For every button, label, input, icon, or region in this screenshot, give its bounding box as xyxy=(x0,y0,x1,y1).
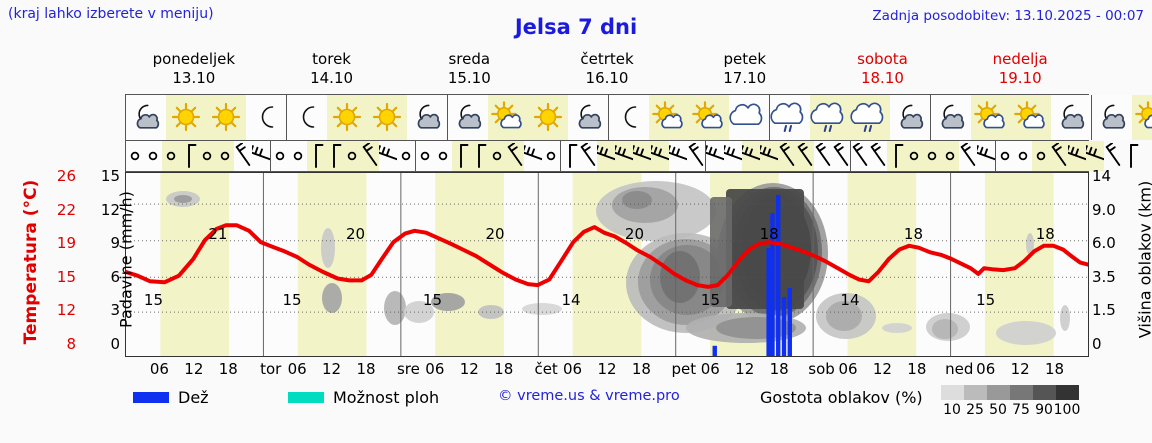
day-header-6: nedelja 19.10 xyxy=(951,50,1089,92)
sun-cloud-icon xyxy=(649,95,689,140)
moon-cloud-icon xyxy=(890,95,930,140)
cloud-height-tick: 1.5 xyxy=(1092,301,1132,319)
wind-barb-icon xyxy=(832,141,850,171)
temperature-label: 20 xyxy=(485,225,504,243)
wind-barb-icon xyxy=(162,141,180,171)
wind-barb-icon xyxy=(887,141,905,171)
temperature-tick: 12 xyxy=(36,301,76,319)
wind-barb-icon xyxy=(361,141,379,171)
cloud-density-swatch-75 xyxy=(1010,385,1033,400)
cloud-density-swatch-90 xyxy=(1033,385,1056,400)
x-axis-label: 18 xyxy=(219,360,238,378)
x-axis-label: čet xyxy=(534,360,557,378)
showers-color-swatch xyxy=(288,392,324,403)
wind-barb-icon xyxy=(724,141,742,171)
cloud-density-tick: 100 xyxy=(1054,402,1081,418)
wind-barb-icon xyxy=(706,141,724,171)
moon-cloud-icon xyxy=(568,95,608,140)
day-date: 16.10 xyxy=(538,69,676,88)
wind-barb-icon xyxy=(452,141,470,171)
x-axis-label: sob xyxy=(808,360,835,378)
cloud-height-tick: 6.0 xyxy=(1092,234,1132,252)
cloud-rain-icon xyxy=(770,95,810,140)
x-axis-label: 06 xyxy=(701,360,720,378)
wind-barb-icon xyxy=(561,141,579,171)
wind-day-1 xyxy=(271,141,416,171)
wind-barb-icon xyxy=(542,141,560,171)
cloud-density-swatch-10 xyxy=(941,385,964,400)
wind-barb-icon xyxy=(633,141,651,171)
wind-barb-icon xyxy=(180,141,198,171)
x-axis-label: 18 xyxy=(907,360,926,378)
wind-barb-icon xyxy=(851,141,869,171)
day-header-4: petek 17.10 xyxy=(676,50,814,92)
sun-icon xyxy=(206,95,246,140)
legend-label-showers: Možnost ploh xyxy=(333,388,439,407)
x-axis-label: 18 xyxy=(356,360,375,378)
x-axis-label: 18 xyxy=(494,360,513,378)
wind-barb-icon xyxy=(814,141,832,171)
wind-barb-icon xyxy=(416,141,434,171)
x-axis-labels: 061218tor061218sre061218čet061218pet0612… xyxy=(125,360,1089,380)
moon-cloud-icon xyxy=(931,95,971,140)
wind-day-0 xyxy=(126,141,271,171)
wind-barb-icon xyxy=(869,141,887,171)
precipitation-tick: 15 xyxy=(92,167,120,185)
temperature-label: 15 xyxy=(976,291,995,309)
x-axis-label: ned xyxy=(945,360,973,378)
wind-barb-icon xyxy=(669,141,687,171)
weather-icon-strip xyxy=(125,94,1089,140)
cloud-density-tick: 90 xyxy=(1035,402,1053,418)
cloud-height-tick: 14 xyxy=(1092,167,1132,185)
cloud-height-axis-title: Višina oblakov (km) xyxy=(1136,160,1152,360)
day-name: četrtek xyxy=(538,50,676,69)
precipitation-tick: 0 xyxy=(92,335,120,353)
cloud-density-swatch-25 xyxy=(964,385,987,400)
wind-barb-icon xyxy=(234,141,252,171)
wind-barb-icon xyxy=(524,141,542,171)
icon-day-2 xyxy=(448,95,609,140)
x-axis-label: 12 xyxy=(460,360,479,378)
wind-barb-icon xyxy=(615,141,633,171)
day-name: sreda xyxy=(400,50,538,69)
wind-barb-icon xyxy=(742,141,760,171)
cloud-density-tick: 75 xyxy=(1012,402,1030,418)
day-header-3: četrtek 16.10 xyxy=(538,50,676,92)
moon-cloud-icon xyxy=(448,95,488,140)
cloud-density-swatch-50 xyxy=(987,385,1010,400)
sun-icon xyxy=(327,95,367,140)
day-date: 15.10 xyxy=(400,69,538,88)
moon-cloud-icon xyxy=(1092,95,1132,140)
x-axis-label: 06 xyxy=(976,360,995,378)
wind-barb-icon xyxy=(252,141,270,171)
cloud-height-tick: 3.5 xyxy=(1092,268,1132,286)
sun-cloud-icon xyxy=(971,95,1011,140)
wind-barb-icon xyxy=(796,141,814,171)
sun-icon xyxy=(166,95,206,140)
temperature-label: 14 xyxy=(840,291,859,309)
x-axis-label: pet xyxy=(672,360,697,378)
wind-barb-icon xyxy=(325,141,343,171)
temperature-tick: 22 xyxy=(36,201,76,219)
icon-day-5 xyxy=(931,95,1092,140)
temperature-label: 14 xyxy=(561,291,580,309)
wind-barb-icon xyxy=(923,141,941,171)
precipitation-axis-title: Padavine (mm/h) xyxy=(117,160,136,360)
icon-day-6 xyxy=(1092,95,1152,140)
moon-icon xyxy=(609,95,649,140)
temperature-label: 20 xyxy=(625,225,644,243)
day-name: petek xyxy=(676,50,814,69)
cloud-height-tick: 0 xyxy=(1092,335,1132,353)
sun-icon xyxy=(367,95,407,140)
wind-barb-icon xyxy=(959,141,977,171)
wind-barb-icon xyxy=(760,141,778,171)
x-axis-label: 12 xyxy=(184,360,203,378)
wind-barb-icon xyxy=(379,141,397,171)
wind-barb-icon xyxy=(941,141,959,171)
day-date: 13.10 xyxy=(125,69,263,88)
x-axis-label: 06 xyxy=(563,360,582,378)
cloud-density-tick: 10 xyxy=(943,402,961,418)
sun-cloud-icon xyxy=(1132,95,1152,140)
temperature-label: 15 xyxy=(423,291,442,309)
last-update-text: Zadnja posodobitev: 13.10.2025 - 00:07 xyxy=(872,8,1144,24)
x-axis-label: 12 xyxy=(735,360,754,378)
forecast-plot: 1521152015201420151814181518 xyxy=(125,172,1089,357)
legend-item-rain: Dež xyxy=(133,388,209,407)
cloud-density-legend-label: Gostota oblakov (%) xyxy=(760,388,923,407)
wind-barb-icon xyxy=(597,141,615,171)
x-axis-label: 12 xyxy=(322,360,341,378)
cloud-density-tick: 50 xyxy=(989,402,1007,418)
precipitation-tick: 9 xyxy=(92,234,120,252)
moon-cloud-icon xyxy=(407,95,447,140)
day-date: 18.10 xyxy=(814,69,952,88)
temperature-tick: 19 xyxy=(36,234,76,252)
wind-barb-icon xyxy=(651,141,669,171)
legend-item-showers: Možnost ploh xyxy=(288,388,439,407)
x-axis-label: 12 xyxy=(1011,360,1030,378)
wind-barb-icon xyxy=(343,141,361,171)
x-axis-label: 12 xyxy=(873,360,892,378)
plot-svg xyxy=(126,173,1088,356)
day-date: 19.10 xyxy=(951,69,1089,88)
x-axis-label: 06 xyxy=(838,360,857,378)
wind-day-4 xyxy=(706,141,851,171)
precipitation-tick: 12 xyxy=(92,201,120,219)
temperature-tick: 8 xyxy=(36,335,76,353)
moon-cloud-icon xyxy=(126,95,166,140)
cloud-icon xyxy=(729,95,769,140)
sun-icon xyxy=(528,95,568,140)
wind-day-5 xyxy=(851,141,996,171)
x-axis-label: 18 xyxy=(770,360,789,378)
cloud-height-tick: 9.0 xyxy=(1092,201,1132,219)
temperature-tick: 15 xyxy=(36,268,76,286)
day-name: sobota xyxy=(814,50,952,69)
wind-barb-icon xyxy=(687,141,705,171)
icon-day-3 xyxy=(609,95,770,140)
legend-label-rain: Dež xyxy=(178,388,209,407)
day-header-0: ponedeljek 13.10 xyxy=(125,50,263,92)
icon-day-1 xyxy=(287,95,448,140)
day-name: ponedeljek xyxy=(125,50,263,69)
temperature-label: 15 xyxy=(701,291,720,309)
wind-barb-icon xyxy=(1014,141,1032,171)
moon-icon xyxy=(287,95,327,140)
x-axis-label: 06 xyxy=(425,360,444,378)
temperature-label: 15 xyxy=(144,291,163,309)
sun-cloud-icon xyxy=(689,95,729,140)
icon-day-0 xyxy=(126,95,287,140)
wind-barb-icon xyxy=(1032,141,1050,171)
wind-barb-icon xyxy=(905,141,923,171)
temperature-label: 15 xyxy=(282,291,301,309)
temperature-label: 20 xyxy=(346,225,365,243)
wind-barb-icon xyxy=(397,141,415,171)
precipitation-tick: 3 xyxy=(92,301,120,319)
day-header-2: sreda 15.10 xyxy=(400,50,538,92)
day-name: torek xyxy=(263,50,401,69)
x-axis-label: 06 xyxy=(288,360,307,378)
day-header-1: torek 14.10 xyxy=(263,50,401,92)
precipitation-tick: 6 xyxy=(92,268,120,286)
day-header-5: sobota 18.10 xyxy=(814,50,952,92)
rain-color-swatch xyxy=(133,392,169,403)
temperature-label: 18 xyxy=(1036,225,1055,243)
temperature-tick: 26 xyxy=(36,167,76,185)
wind-barb-icon xyxy=(996,141,1014,171)
wind-day-3 xyxy=(561,141,706,171)
wind-barb-icon xyxy=(488,141,506,171)
x-axis-label: 12 xyxy=(597,360,616,378)
x-axis-label: tor xyxy=(260,360,281,378)
cloud-density-colorbar xyxy=(941,385,1079,400)
day-date: 17.10 xyxy=(676,69,814,88)
wind-barb-icon xyxy=(289,141,307,171)
wind-barb-icon xyxy=(470,141,488,171)
moon-cloud-icon xyxy=(1051,95,1091,140)
x-axis-label: 06 xyxy=(150,360,169,378)
cloud-rain-icon xyxy=(850,95,890,140)
icon-day-4 xyxy=(770,95,931,140)
wind-barb-icon xyxy=(506,141,524,171)
wind-barb-icon xyxy=(271,141,289,171)
wind-barb-icon xyxy=(198,141,216,171)
day-name: nedelja xyxy=(951,50,1089,69)
wind-barb-icon xyxy=(307,141,325,171)
temperature-axis-title: Temperatura (°C) xyxy=(21,167,41,357)
wind-barb-icon xyxy=(1068,141,1086,171)
wind-day-2 xyxy=(416,141,561,171)
sun-cloud-icon xyxy=(1011,95,1051,140)
wind-barb-icon xyxy=(1050,141,1068,171)
x-axis-label: 18 xyxy=(1045,360,1064,378)
temperature-label: 18 xyxy=(904,225,923,243)
wind-barb-icon xyxy=(977,141,995,171)
cloud-density-swatch-100 xyxy=(1056,385,1079,400)
moon-icon xyxy=(246,95,286,140)
cloud-rain-icon xyxy=(810,95,850,140)
day-date: 14.10 xyxy=(263,69,401,88)
wind-barb-icon xyxy=(778,141,796,171)
sun-cloud-icon xyxy=(488,95,528,140)
day-headers: ponedeljek 13.10 torek 14.10 sreda 15.10… xyxy=(125,50,1089,92)
x-axis-label: sre xyxy=(397,360,420,378)
wind-barb-icon xyxy=(434,141,452,171)
cloud-density-tick: 25 xyxy=(966,402,984,418)
wind-barb-icon xyxy=(144,141,162,171)
x-axis-label: 18 xyxy=(632,360,651,378)
copyright-text[interactable]: © vreme.us & vreme.pro xyxy=(498,388,680,404)
temperature-label: 18 xyxy=(760,225,779,243)
wind-barb-icon xyxy=(579,141,597,171)
wind-barb-strip xyxy=(125,140,1089,172)
wind-barb-icon xyxy=(216,141,234,171)
temperature-label: 21 xyxy=(208,225,227,243)
